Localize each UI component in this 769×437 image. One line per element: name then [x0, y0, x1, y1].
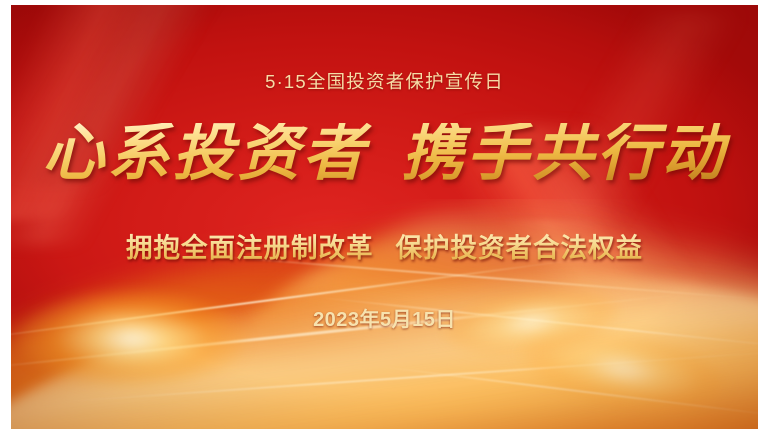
poster-banner: 5·15全国投资者保护宣传日 心系投资者携手共行动 拥抱全面注册制改革保护投资者…: [11, 5, 758, 429]
headline-part-2: 携手共行动: [402, 119, 727, 188]
subhead-part-1: 拥抱全面注册制改革: [126, 233, 374, 263]
poster-kicker: 5·15全国投资者保护宣传日: [11, 68, 758, 94]
poster-frame: 5·15全国投资者保护宣传日 心系投资者携手共行动 拥抱全面注册制改革保护投资者…: [0, 0, 769, 437]
poster-date: 2023年5月15日: [11, 303, 758, 332]
poster-subhead: 拥抱全面注册制改革保护投资者合法权益: [11, 226, 758, 265]
subhead-part-2: 保护投资者合法权益: [396, 233, 644, 263]
poster-text-block: 5·15全国投资者保护宣传日 心系投资者携手共行动 拥抱全面注册制改革保护投资者…: [11, 5, 758, 429]
poster-headline: 心系投资者携手共行动: [11, 123, 758, 185]
headline-part-1: 心系投资者: [42, 119, 367, 188]
